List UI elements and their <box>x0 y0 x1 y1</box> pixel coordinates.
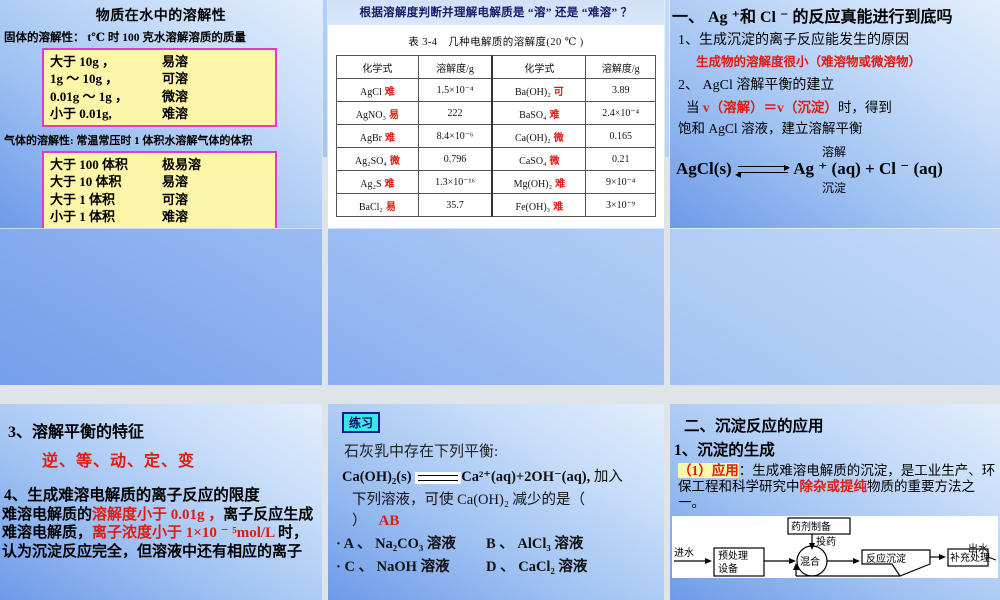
panel1-solid-row: 1g ～ 10g ， 可溶 <box>50 70 269 87</box>
panel3-item1: 1、生成沉淀的离子反应能发生的原因 <box>678 29 1000 49</box>
value-cell: 0.796 <box>418 148 492 171</box>
panel1-solid-row: 大于 10g ， 易溶 <box>50 53 269 70</box>
panel-precipitation-application: 二、沉淀反应的应用 1、沉淀的生成 （1）应用：生成难溶电解质的沉淀，是工业生产… <box>670 404 1000 600</box>
text-fragment-red: 除杂或提纯 <box>800 479 868 494</box>
range-text: 大于 10g ， <box>50 53 162 70</box>
panel2-caption: 表 3-4 几种电解质的溶解度(20 ℃ ) <box>336 34 656 49</box>
solubility-table: 化学式 溶解度/g 化学式 溶解度/g AgCl难 1.5×10⁻⁴ Ba(OH… <box>336 55 656 217</box>
panel1-gas-row: 大于 100 体积 极易溶 <box>50 156 269 173</box>
value-cell: 0.21 <box>586 148 656 171</box>
flow-label-prep: 药剂制备 <box>791 520 831 533</box>
range-text: 0.01g ～ 1g ， <box>50 88 162 105</box>
option-b: B 、 AlCl₃ 溶液 <box>486 532 583 553</box>
app-label: （1）应用 <box>678 463 739 478</box>
eq-expression: AgCl(s) ▸◂ Ag ⁺ (aq) + Cl ⁻ (aq) <box>676 159 943 179</box>
formula-cell: BaCl₂易 <box>337 194 419 217</box>
table-row: AgBr难 8.4×10⁻⁶ Ca(OH)₂微 0.165 <box>337 125 656 148</box>
panel2-table-wrap: 表 3-4 几种电解质的溶解度(20 ℃ ) 化学式 溶解度/g 化学式 溶解度… <box>328 25 664 223</box>
panel1-gas-row: 小于 1 体积 难溶 <box>50 208 269 225</box>
formula-cell: AgBr难 <box>337 125 419 148</box>
panel6-sub: 1、沉淀的生成 <box>674 438 1000 460</box>
value-cell: 3×10⁻⁹ <box>586 194 656 217</box>
panel-solubility-in-water: 物质在水中的溶解性 固体的溶解性： t℃ 时 100 克水溶解溶质的质量 大于 … <box>0 0 322 228</box>
formula-cell: Ba(OH)₂可 <box>492 79 586 102</box>
panel4-item3: 3、溶解平衡的特征 <box>8 418 322 442</box>
flow-label-out: 出水 <box>968 542 988 555</box>
range-text: 1g ～ 10g ， <box>50 70 162 87</box>
text-fragment-red: ×10 ⁻ ⁵mol/L <box>193 525 274 541</box>
formula-cell: Ag₂S难 <box>337 171 419 194</box>
panel6-heading: 二、沉淀反应的应用 <box>684 414 1000 436</box>
slide-canvas: 物质在水中的溶解性 固体的溶解性： t℃ 时 100 克水溶解溶质的质量 大于 … <box>0 0 1000 600</box>
panel5-option-row: · A 、 Na₂CO₃ 溶液 B 、 AlCl₃ 溶液 <box>336 532 664 553</box>
flow-label-dose: 投药 <box>816 535 836 548</box>
value-cell: 1.5×10⁻⁴ <box>418 79 492 102</box>
col-header: 化学式 <box>492 56 586 79</box>
table-header-row: 化学式 溶解度/g 化学式 溶解度/g <box>337 56 656 79</box>
table-row: BaCl₂易 35.7 Fe(OH)₃难 3×10⁻⁹ <box>337 194 656 217</box>
eq-tail: 加入 <box>590 469 623 485</box>
range-text: 大于 10 体积 <box>50 173 162 190</box>
panel1-title: 物质在水中的溶解性 <box>0 5 322 25</box>
eq-above-label: 溶解 <box>822 143 846 160</box>
range-text: 大于 100 体积 <box>50 156 162 173</box>
range-text: 小于 1 体积 <box>50 208 162 225</box>
text-fragment-red: 溶解度小于 0.01g ， <box>92 507 223 523</box>
panel5-line1: 石灰乳中存在下列平衡: <box>344 440 664 461</box>
panel-practice-question: 练习 石灰乳中存在下列平衡: Ca(OH)₂(s) Ca²⁺(aq)+2OH⁻(… <box>328 404 664 600</box>
column-gap-1 <box>322 157 328 600</box>
formula-cell: AgCl难 <box>337 79 419 102</box>
text-fragment: 时，得到 <box>838 100 892 115</box>
panel3-item1-note: 生成物的溶解度很小（难溶物或微溶物） <box>696 51 1000 70</box>
panel5-line2: 下列溶液，可使 Ca(OH)₂ 减少的是（ <box>352 488 664 509</box>
flow-label-pretreat-1: 预处理 <box>718 550 748 562</box>
text-fragment: ：生成难溶电解质的沉淀，是工 <box>739 463 928 478</box>
formula-cell: BaSO₄难 <box>492 102 586 125</box>
panel-solubility-table: 根据溶解度判断并理解电解质是 “溶” 还是 “难溶” ？ 表 3-4 几种电解质… <box>328 0 664 228</box>
value-cell: 2.4×10⁻⁴ <box>586 102 656 125</box>
label-text: 难溶 <box>162 105 269 122</box>
text-fragment: 当 <box>686 100 703 115</box>
table-row: Ag₂S难 1.3×10⁻¹⁶ Mg(OH)₂难 9×10⁻⁴ <box>337 171 656 194</box>
col-header: 化学式 <box>337 56 419 79</box>
formula-cell: AgNO₃易 <box>337 102 419 125</box>
text-fragment: ） <box>352 513 367 529</box>
eq-left: Ca(OH)₂(s) <box>342 469 412 485</box>
option-a: · A 、 Na₂CO₃ 溶液 <box>336 532 486 553</box>
eq-right: Ca²⁺(aq)+2OH⁻(aq), <box>461 469 590 485</box>
panel-equilibrium-features: 3、溶解平衡的特征 逆、等、动、定、变 4、生成难溶电解质的离子反应的限度 难溶… <box>0 404 322 600</box>
panel5-line3: ）AB <box>352 509 664 530</box>
equilibrium-arrow-icon: ▸◂ <box>736 163 790 177</box>
row-gap <box>0 385 1000 404</box>
value-cell: 35.7 <box>418 194 492 217</box>
panel3-item2: 2、 AgCl 溶解平衡的建立 <box>678 74 1000 94</box>
formula-cell: Fe(OH)₃难 <box>492 194 586 217</box>
table-row: Ag₂SO₄微 0.796 CaSO₄微 0.21 <box>337 148 656 171</box>
panel1-solid-lead: 固体的溶解性： t℃ 时 100 克水溶解溶质的质量 <box>4 29 322 45</box>
formula-cell: Ag₂SO₄微 <box>337 148 419 171</box>
formula-cell: CaSO₄微 <box>492 148 586 171</box>
panel4-features: 逆、等、动、定、变 <box>42 447 322 471</box>
panel1-solid-box: 大于 10g ， 易溶 1g ～ 10g ， 可溶 0.01g ～ 1g ， 微… <box>42 48 277 127</box>
panel1-solid-row: 0.01g ～ 1g ， 微溶 <box>50 88 269 105</box>
flow-label-mix: 混合 <box>800 555 820 568</box>
panel1-gas-row: 大于 1 体积 可溶 <box>50 191 269 208</box>
flow-label-pretreat-2: 设备 <box>718 562 738 575</box>
panel5-equation: Ca(OH)₂(s) Ca²⁺(aq)+2OH⁻(aq), 加入 <box>342 465 664 486</box>
value-cell: 222 <box>418 102 492 125</box>
flow-label-react: 反应沉淀 <box>866 552 906 565</box>
range-text: 小于 0.01g, <box>50 105 162 122</box>
value-cell: 8.4×10⁻⁶ <box>418 125 492 148</box>
value-cell: 1.3×10⁻¹⁶ <box>418 171 492 194</box>
col-header: 溶解度/g <box>586 56 656 79</box>
panel5-option-row: · C 、 NaOH 溶液 D 、 CaCl₂ 溶液 <box>336 555 664 576</box>
text-fragment: 离子 <box>223 507 253 523</box>
table-row: AgCl难 1.5×10⁻⁴ Ba(OH)₂可 3.89 <box>337 79 656 102</box>
panel4-body: 难溶电解质的溶解度小于 0.01g ，离子反应生成难溶电解质，离子浓度小于 1×… <box>2 506 322 561</box>
label-text: 微溶 <box>162 88 269 105</box>
flowchart-svg: 药剂制备 投药 进水 预处理 设备 混合 反应沉淀 补充处理 出水 部分回流 <box>672 516 998 578</box>
panel4-item4: 4、生成难溶电解质的离子反应的限度 <box>4 483 322 505</box>
label-text: 易溶 <box>162 173 269 190</box>
label-text: 难溶 <box>162 208 269 225</box>
panel3-item2-line2: 饱和 AgCl 溶液，建立溶解平衡 <box>678 117 1000 137</box>
formula-cell: Mg(OH)₂难 <box>492 171 586 194</box>
label-text: 可溶 <box>162 191 269 208</box>
practice-badge: 练习 <box>342 412 380 433</box>
water-treatment-flowchart: 药剂制备 投药 进水 预处理 设备 混合 反应沉淀 补充处理 出水 部分回流 <box>672 516 998 578</box>
value-cell: 0.165 <box>586 125 656 148</box>
table-row: AgNO₃易 222 BaSO₄难 2.4×10⁻⁴ <box>337 102 656 125</box>
option-d: D 、 CaCl₂ 溶液 <box>486 555 587 576</box>
label-text: 可溶 <box>162 70 269 87</box>
panel3-heading: 一、 Ag ⁺和 Cl ⁻ 的反应真能进行到底吗 <box>672 3 1000 27</box>
value-cell: 3.89 <box>586 79 656 102</box>
eq-right: Ag ⁺ (aq) + Cl ⁻ (aq) <box>793 159 942 178</box>
label-text: 极易溶 <box>162 156 269 173</box>
option-c: · C 、 NaOH 溶液 <box>336 555 486 576</box>
panel1-gas-row: 大于 10 体积 易溶 <box>50 173 269 190</box>
range-text: 大于 1 体积 <box>50 191 162 208</box>
panel2-question: 根据溶解度判断并理解电解质是 “溶” 还是 “难溶” ？ <box>328 0 664 25</box>
answer-text: AB <box>379 513 400 529</box>
column-gap-2 <box>664 157 670 600</box>
eq-left: AgCl(s) <box>676 159 732 178</box>
text-fragment-red: 离子浓度小于 1 <box>92 525 193 541</box>
flow-label-in: 进水 <box>674 547 694 559</box>
formula-cell: Ca(OH)₂微 <box>492 125 586 148</box>
panel1-solid-row: 小于 0.01g, 难溶 <box>50 105 269 122</box>
col-header: 溶解度/g <box>418 56 492 79</box>
equilibrium-arrow-icon <box>415 472 461 484</box>
panel6-body: （1）应用：生成难溶电解质的沉淀，是工业生产、环保工程和科学研究中除杂或提纯物质… <box>678 463 1000 512</box>
panel1-gas-box: 大于 100 体积 极易溶 大于 10 体积 易溶 大于 1 体积 可溶 小于 … <box>42 151 277 228</box>
panel-agcl-equilibrium: 一、 Ag ⁺和 Cl ⁻ 的反应真能进行到底吗 1、生成沉淀的离子反应能发生的… <box>670 0 1000 228</box>
panel1-gas-lead: 气体的溶解性: 常温常压时 1 体积水溶解气体的体积 <box>4 132 322 148</box>
panel3-equation: 溶解 沉淀 AgCl(s) ▸◂ Ag ⁺ (aq) + Cl ⁻ (aq) <box>670 143 1000 195</box>
label-text: 易溶 <box>162 53 269 70</box>
text-fragment-red: v（溶解）＝v（沉淀） <box>703 100 838 115</box>
value-cell: 9×10⁻⁴ <box>586 171 656 194</box>
eq-below-label: 沉淀 <box>822 179 846 196</box>
text-fragment: 难溶电解质的 <box>2 507 92 523</box>
text-fragment: 但溶液中还有相应的离子 <box>137 544 302 560</box>
panel3-item2-line1: 当 v（溶解）＝v（沉淀）时，得到 <box>686 96 1000 116</box>
